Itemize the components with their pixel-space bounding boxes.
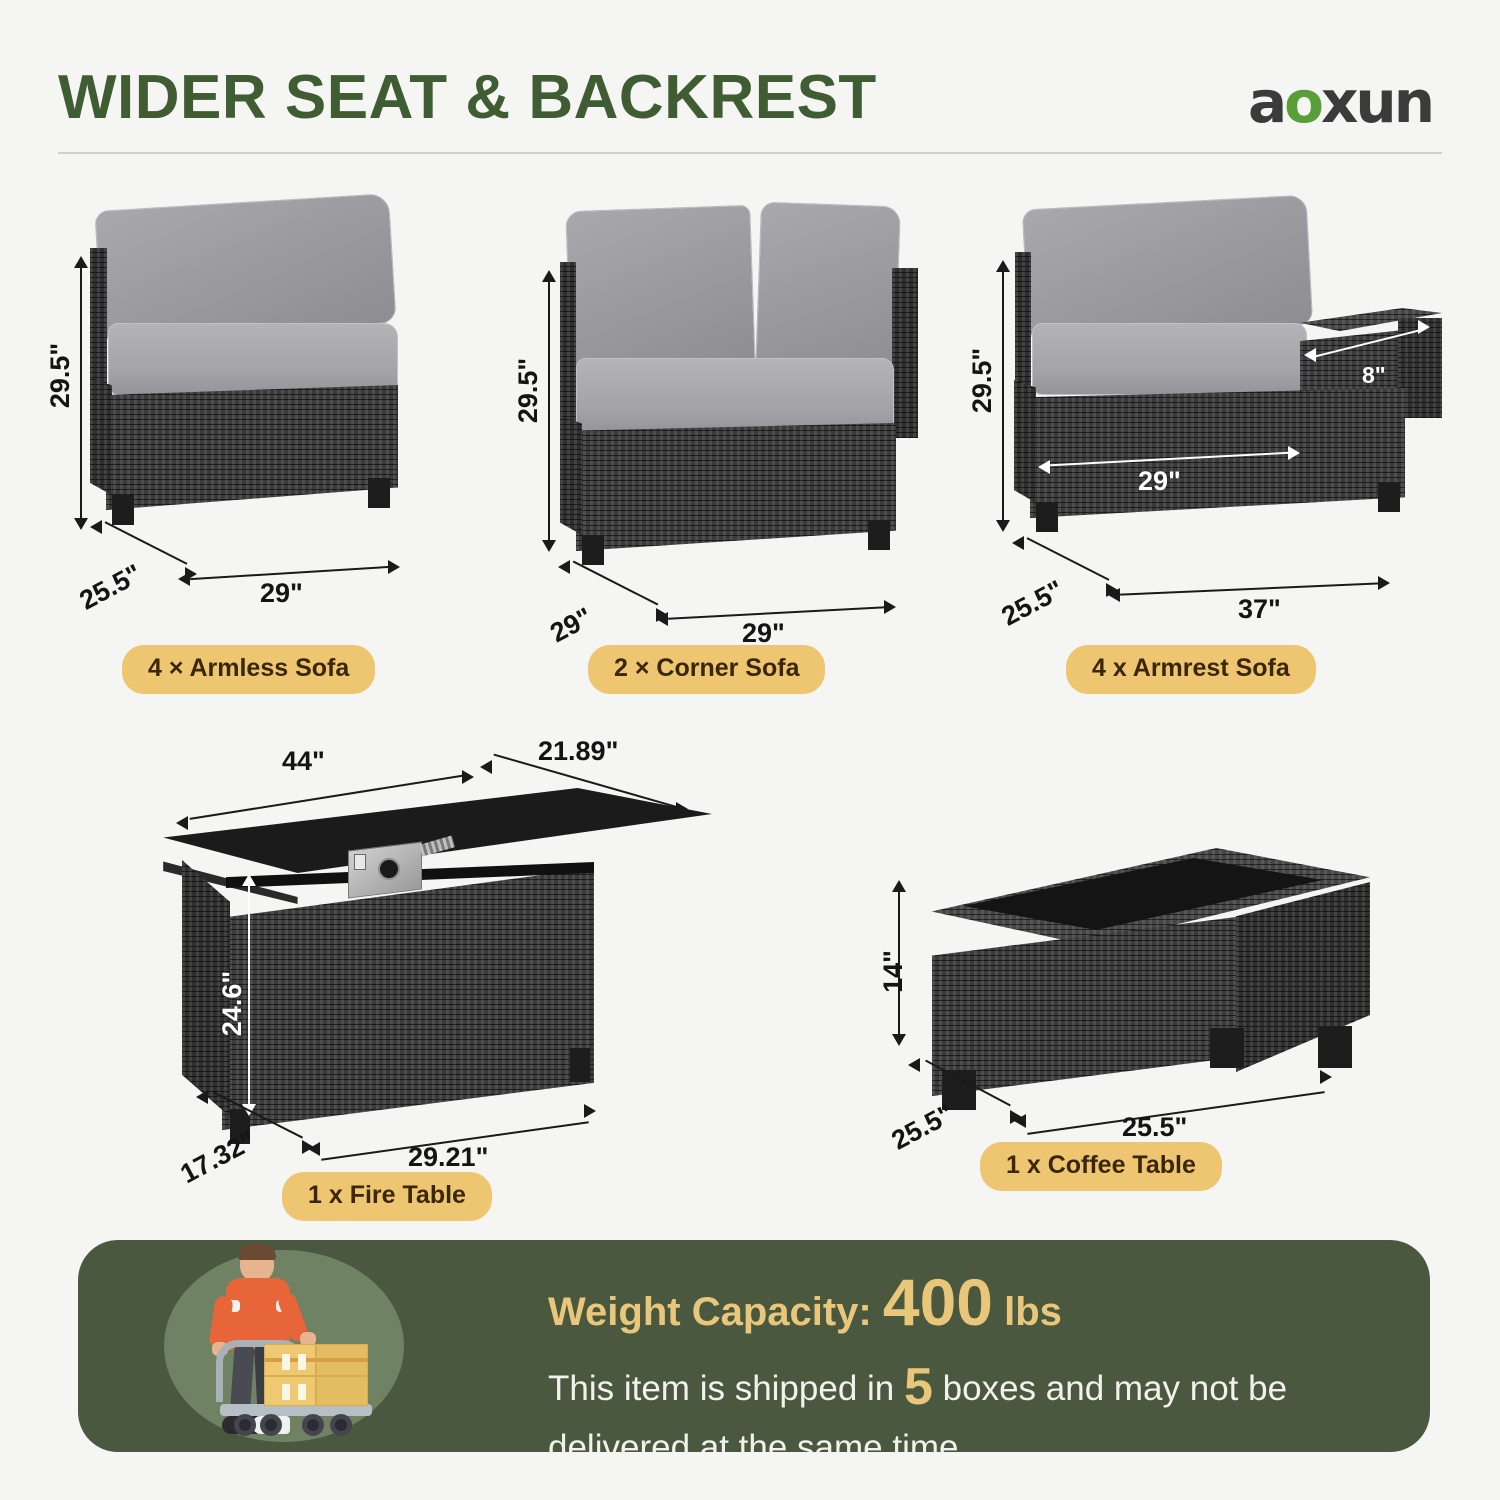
dim-width: 29" [260, 578, 303, 609]
base-side [1014, 380, 1036, 508]
dim-depth: 25.5" [75, 558, 147, 616]
dim-height: 14" [878, 950, 909, 993]
control-switch-icon [354, 854, 366, 870]
leg-front-right [1378, 482, 1400, 512]
box-label-d [298, 1384, 306, 1400]
dim-depth: 25.5" [997, 574, 1069, 632]
cabinet-front [222, 868, 594, 1130]
dim-top-depth: 21.89" [538, 736, 618, 767]
armrest-arrow-right [1418, 320, 1430, 334]
top-depth-arrow-right [676, 802, 688, 816]
dim-armrest: 8" [1362, 362, 1386, 389]
leg-front-right [1210, 1028, 1244, 1068]
depth-dim-line [105, 521, 188, 565]
badge-fire-table: 1 x Fire Table [282, 1172, 492, 1221]
logo-accent-letter: o [1284, 68, 1321, 136]
leg-back-right [1318, 1026, 1352, 1068]
box-tape-upper [264, 1358, 368, 1362]
dim-base-depth: 17.32" [175, 1125, 261, 1190]
delivery-person-icon [188, 1244, 388, 1444]
wheel-2 [260, 1414, 282, 1436]
base-side [560, 416, 582, 540]
brand-logo: aoxun [1248, 68, 1432, 136]
dim-seat-width: 29" [1138, 466, 1181, 497]
seat-width-arrow-left [1038, 460, 1050, 474]
top-width-arrow-right [462, 770, 474, 784]
dim-height: 29.5" [967, 348, 998, 413]
leg-front-right [368, 478, 390, 508]
wheel-4 [330, 1414, 352, 1436]
badge-coffee-table: 1 x Coffee Table [980, 1142, 1222, 1191]
depth-arrow-right [1010, 1110, 1022, 1124]
shipping-box-count: 5 [904, 1358, 933, 1416]
wheel-3 [302, 1414, 324, 1436]
depth-arrow-left [558, 560, 570, 574]
seat-width-arrow-right [1288, 446, 1300, 460]
person-hair [238, 1244, 276, 1260]
depth-arrow-right [1106, 583, 1118, 597]
badge-armrest-sofa: 4 x Armrest Sofa [1066, 645, 1316, 694]
dim-width: 25.5" [1122, 1112, 1187, 1143]
base-front [576, 423, 896, 551]
shipping-note: This item is shipped in 5 boxes and may … [548, 1352, 1358, 1452]
box-label-c [282, 1384, 290, 1400]
product-coffee-table: 14" 25.5" 25.5" 1 x Coffee Table [870, 830, 1370, 1180]
base-front [106, 385, 398, 510]
height-dim-line [80, 268, 82, 518]
header-divider [58, 152, 1442, 154]
base-depth-arrow-left [196, 1090, 208, 1104]
width-arrow-right [1378, 576, 1390, 590]
width-arrow-right [1320, 1070, 1332, 1084]
height-dim-line [1002, 272, 1004, 520]
base-side [90, 378, 112, 500]
armrest-arrow-left [1304, 348, 1316, 362]
cabinet-front [932, 916, 1244, 1096]
shipping-note-part1: This item is shipped in [548, 1369, 894, 1408]
back-cushion-right [755, 202, 901, 377]
back-cushion-left [565, 205, 755, 371]
depth-arrow-right [656, 608, 668, 622]
height-arrow-bottom [74, 518, 88, 530]
depth-arrow-left [90, 520, 102, 534]
box-label-a [282, 1354, 290, 1370]
box-lower-right [316, 1376, 368, 1406]
seat-cushion [576, 358, 894, 433]
base-depth-arrow-right [302, 1140, 314, 1154]
side-panel-right [892, 268, 918, 438]
weight-capacity-line: Weight Capacity: 400 lbs [548, 1264, 1062, 1340]
weight-capacity-unit: lbs [1004, 1290, 1062, 1334]
dim-depth: 29" [545, 602, 597, 649]
depth-arrow-left [908, 1058, 920, 1072]
base-width-arrow-right [584, 1104, 596, 1118]
product-fire-table: 44" 21.89" 24.6" 29.21" 17.32" 1 x Fire … [130, 740, 740, 1180]
header: WIDER SEAT & BACKREST aoxun [0, 0, 1500, 170]
width-arrow-right [884, 600, 896, 614]
badge-corner-sofa: 2 × Corner Sofa [588, 645, 825, 694]
height-arrow-top [242, 874, 256, 886]
weight-capacity-label: Weight Capacity: [548, 1290, 872, 1334]
seat-cushion [108, 323, 398, 395]
dim-width: 37" [1238, 594, 1281, 625]
dim-height: 24.6" [217, 971, 248, 1036]
wheel-1 [234, 1414, 256, 1436]
box-lower-left [264, 1376, 316, 1406]
control-knob-icon [378, 858, 400, 880]
depth-dim-line [1027, 537, 1110, 581]
width-arrow-right [388, 560, 400, 574]
top-width-arrow-left [176, 816, 188, 830]
depth-dim-line [573, 561, 659, 606]
badge-armless-sofa: 4 × Armless Sofa [122, 645, 375, 694]
leg-front-left [582, 535, 604, 565]
height-dim-line [548, 282, 550, 540]
depth-arrow-left [1012, 536, 1024, 550]
seat-cushion [1032, 323, 1307, 395]
product-corner-sofa: 29.5" 29" 29" 2 × Corner Sofa [520, 190, 950, 610]
height-arrow-bottom [996, 520, 1010, 532]
height-arrow-top [74, 256, 88, 268]
height-arrow-top [542, 270, 556, 282]
height-arrow-bottom [542, 540, 556, 552]
leg-front-left [112, 495, 134, 525]
leg-front-left [1036, 502, 1058, 532]
depth-arrow-right [185, 567, 197, 581]
height-arrow-top [892, 880, 906, 892]
leg-front-right [868, 520, 890, 550]
base-front [1030, 388, 1405, 518]
dim-height: 29.5" [45, 343, 76, 408]
dim-top-width: 44" [282, 746, 325, 777]
dim-depth: 25.5" [887, 1098, 959, 1156]
height-arrow-top [996, 260, 1010, 272]
product-armless-sofa: 29.5" 29" 25.5" 4 × Armless Sofa [60, 190, 480, 610]
back-cushion [94, 193, 396, 341]
back-cushion [1022, 195, 1313, 340]
product-armrest-sofa: 29.5" 37" 25.5" 29" 8" 4 x Armrest Sofa [970, 190, 1440, 610]
weight-capacity-value: 400 [883, 1265, 993, 1339]
dim-base-width: 29.21" [408, 1142, 488, 1173]
height-dim-line [248, 886, 250, 1104]
leg-front-right [570, 1048, 590, 1082]
page-title: WIDER SEAT & BACKREST [58, 62, 877, 133]
height-arrow-bottom [892, 1034, 906, 1046]
shipping-banner: Weight Capacity: 400 lbs This item is sh… [78, 1240, 1430, 1452]
top-depth-arrow-left [480, 760, 492, 774]
box-label-b [298, 1354, 306, 1370]
dim-height: 29.5" [513, 358, 544, 423]
